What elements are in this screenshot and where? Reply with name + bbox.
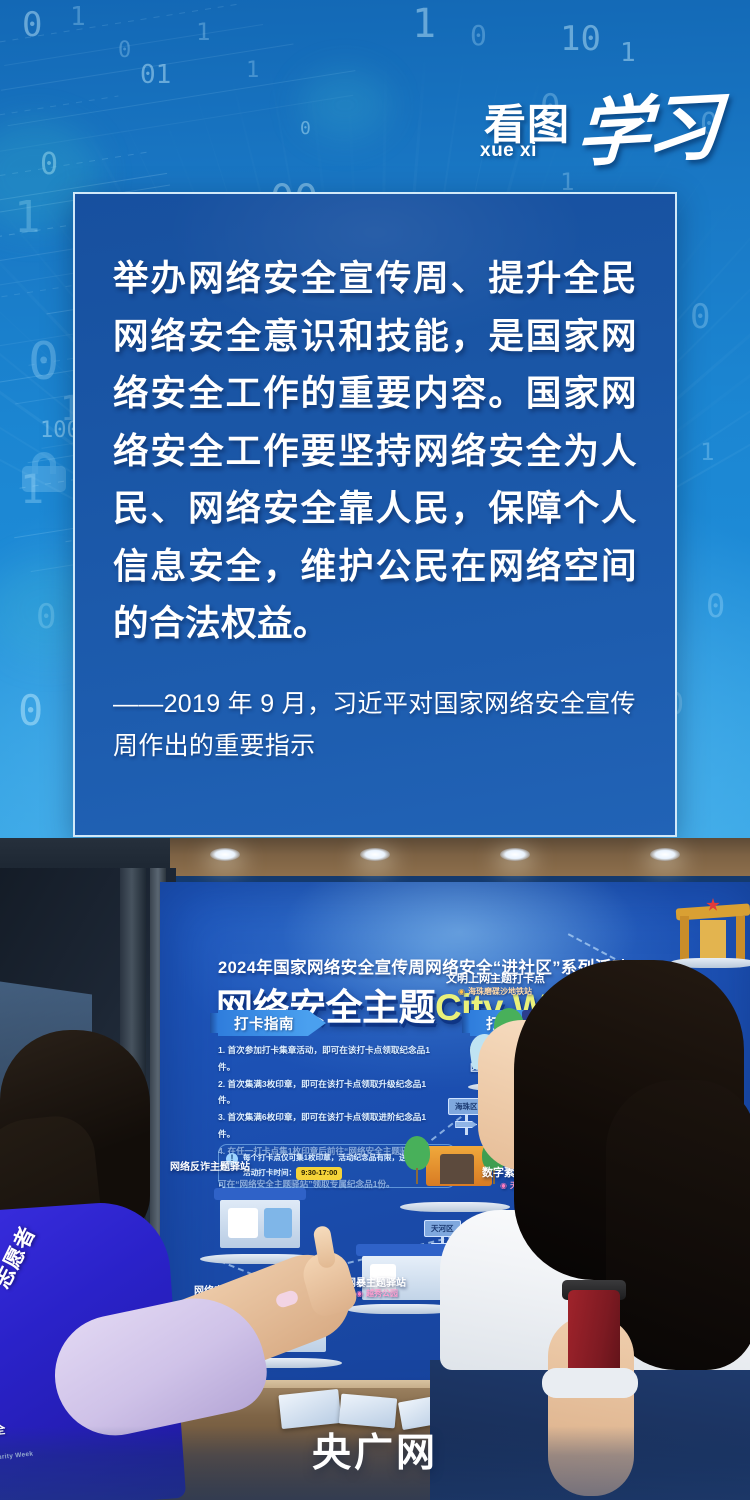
site-watermark: 央广网 [0,1422,750,1478]
bokeh-blob [300,70,390,140]
visitor-person [430,960,750,1500]
ceiling-downlight [650,848,680,861]
visitor-hair-side [606,1080,750,1370]
quote-card: 举办网络安全宣传周、提升全民网络安全意识和技能，是国家网络安全工作的重要内容。国… [73,192,677,837]
brand-logo: 看图 学习 xue xi [456,66,716,166]
ceiling-downlight [500,848,530,861]
logo-xuexi-script: 学习 [574,96,718,170]
quote-attribution: ——2019 年 9 月，习近平对国家网络安全宣传周作出的重要指示 [113,683,637,767]
poster-root: 0101010101010101010101010101010101010110… [0,0,750,1500]
ceiling-downlight [360,848,390,861]
ceiling-downlight [210,848,240,861]
spot-location-4: ◉越秀公园 [356,1288,398,1299]
logo-pinyin: xue xi [480,140,537,162]
map-pin-icon: ◉ [356,1289,363,1298]
exhibition-photo: 2024年国家网络安全宣传周网络安全“进社区”系列活动 网络安全主题City W… [0,838,750,1500]
visitor-sleeve-cuff [542,1368,638,1398]
quote-text: 举办网络安全宣传周、提升全民网络安全意识和技能，是国家网络安全工作的重要内容。国… [113,250,637,653]
padlock-icon [22,452,66,492]
illustration-gateway [670,898,750,968]
